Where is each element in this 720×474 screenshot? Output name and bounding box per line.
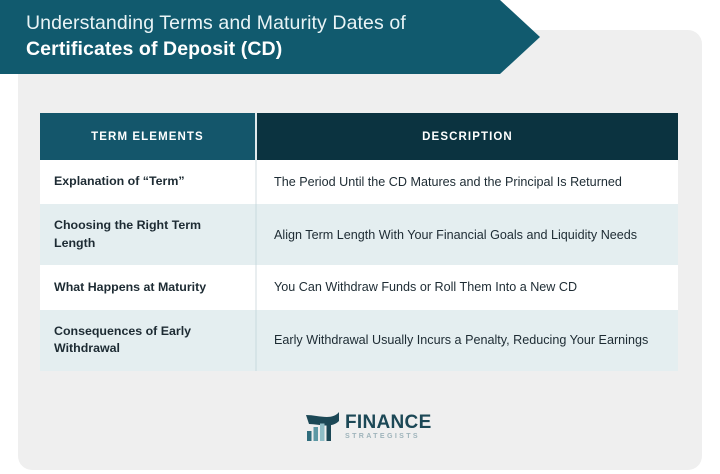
cell-term: What Happens at Maturity <box>40 265 256 309</box>
finance-strategists-logo: FINANCE STRATEGISTS <box>306 412 432 441</box>
logo-primary-text: FINANCE <box>345 413 432 432</box>
cell-description: The Period Until the CD Matures and the … <box>256 160 678 204</box>
logo-secondary-text: STRATEGISTS <box>345 433 432 440</box>
table-header: TERM ELEMENTS DESCRIPTION <box>40 113 678 160</box>
cell-term: Explanation of “Term” <box>40 160 256 204</box>
table-row: Choosing the Right Term Length Align Ter… <box>40 204 678 265</box>
header-banner: Understanding Terms and Maturity Dates o… <box>0 0 540 74</box>
table-body: Explanation of “Term” The Period Until t… <box>40 160 678 371</box>
cell-description: You Can Withdraw Funds or Roll Them Into… <box>256 265 678 309</box>
table-row: Explanation of “Term” The Period Until t… <box>40 160 678 204</box>
term-elements-table: TERM ELEMENTS DESCRIPTION Explanation of… <box>40 113 678 371</box>
table-row: Consequences of Early Withdrawal Early W… <box>40 310 678 371</box>
cell-description: Align Term Length With Your Financial Go… <box>256 204 678 265</box>
column-header-term-elements: TERM ELEMENTS <box>40 113 256 160</box>
column-header-description: DESCRIPTION <box>256 113 678 160</box>
header-title-line1: Understanding Terms and Maturity Dates o… <box>26 11 490 37</box>
logo-wordmark: FINANCE STRATEGISTS <box>345 413 432 441</box>
header-title-line2: Certificates of Deposit (CD) <box>26 37 490 63</box>
cell-description: Early Withdrawal Usually Incurs a Penalt… <box>256 310 678 371</box>
cell-term: Consequences of Early Withdrawal <box>40 310 256 371</box>
cell-term: Choosing the Right Term Length <box>40 204 256 265</box>
table-header-row: TERM ELEMENTS DESCRIPTION <box>40 113 678 160</box>
table-row: What Happens at Maturity You Can Withdra… <box>40 265 678 309</box>
finance-strategists-chart-swoosh-icon <box>306 412 339 441</box>
